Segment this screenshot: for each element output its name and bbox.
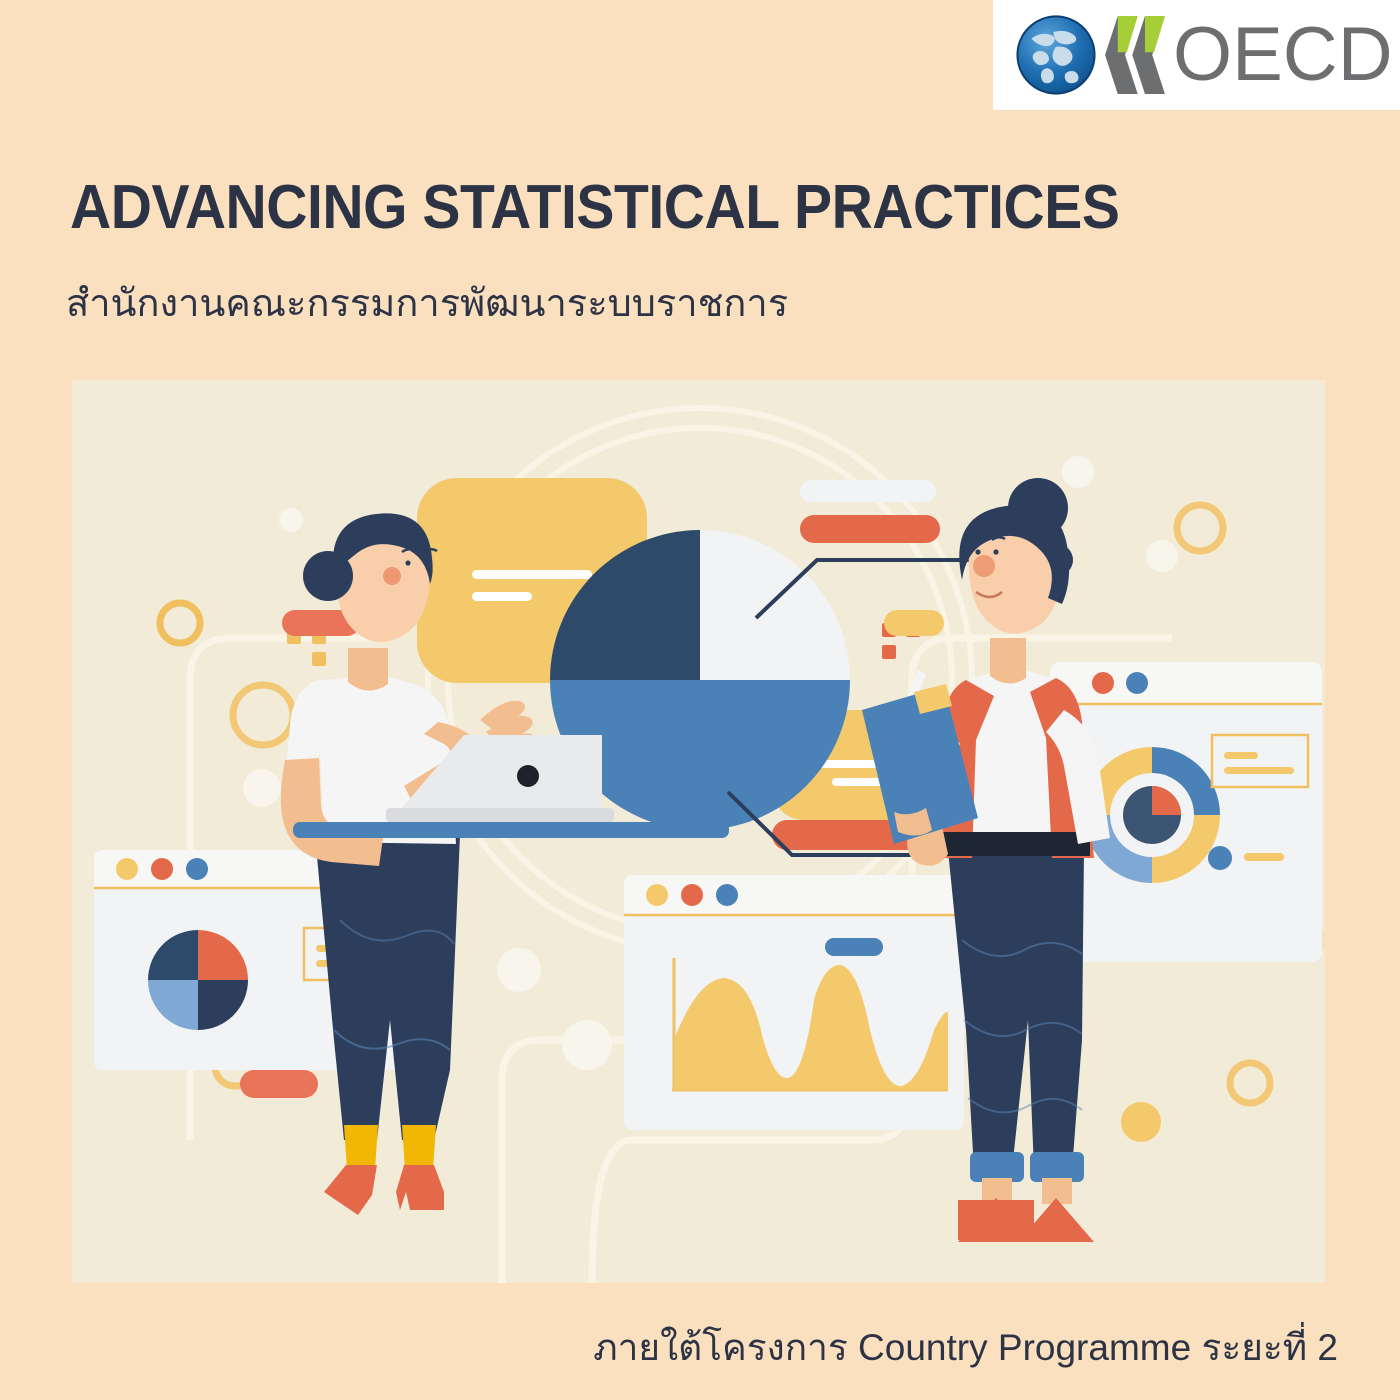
window-dot-red bbox=[1092, 672, 1114, 694]
data-analytics-illustration bbox=[72, 380, 1325, 1283]
window-dot-yellow bbox=[646, 884, 668, 906]
oecd-logo: OECD bbox=[993, 0, 1400, 110]
window-dot-yellow bbox=[116, 858, 138, 880]
poster-page: { "page": { "background_color": "#FBE0C0… bbox=[0, 0, 1400, 1400]
center-browser-window bbox=[624, 875, 964, 1130]
double-chevron-icon bbox=[1103, 16, 1167, 94]
window-dot-blue bbox=[186, 858, 208, 880]
window-dot-blue bbox=[716, 884, 738, 906]
oecd-wordmark: OECD bbox=[1173, 17, 1393, 93]
quadrant-pie-chart bbox=[148, 930, 248, 1030]
window-dot-red bbox=[681, 884, 703, 906]
page-title: ADVANCING STATISTICAL PRACTICES bbox=[70, 172, 1119, 243]
footer-note: ภายใต้โครงการ Country Programme ระยะที่ … bbox=[0, 1318, 1338, 1377]
page-subtitle: สำนักงานคณะกรรมการพัฒนาระบบราชการ bbox=[66, 272, 788, 333]
globe-icon bbox=[1015, 14, 1097, 96]
window-dot-blue bbox=[1126, 672, 1148, 694]
window-dot-red bbox=[151, 858, 173, 880]
